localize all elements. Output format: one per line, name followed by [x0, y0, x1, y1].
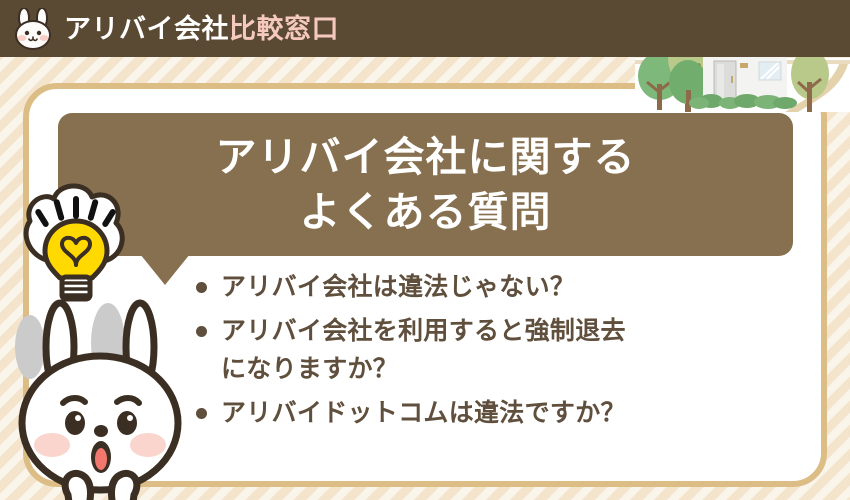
- faq-list: アリバイ会社は違法じゃない？ アリバイ会社を利用すると強制退去 になりますか？ …: [196, 268, 816, 438]
- banner-line-1: アリバイ会社に関する: [216, 130, 636, 185]
- page-title: アリバイ会社比較窓口: [64, 16, 339, 43]
- list-item[interactable]: アリバイドットコムは違法ですか？: [196, 394, 816, 432]
- list-item[interactable]: アリバイ会社は違法じゃない？: [196, 268, 816, 306]
- bullet-icon: [196, 282, 207, 293]
- header-bar: アリバイ会社比較窓口: [0, 0, 850, 57]
- rabbit-face-icon: [10, 8, 56, 52]
- header-title-accent: 比較窓口: [229, 14, 339, 44]
- banner-line-2: よくある質問: [300, 185, 552, 240]
- header-title-main: アリバイ会社: [64, 14, 229, 44]
- faq-question-text: アリバイ会社を利用すると強制退去: [221, 312, 626, 350]
- faq-question-text: アリバイドットコムは違法ですか？: [221, 394, 626, 432]
- page-root: アリバイ会社比較窓口 アリバイ会社に関する よくある質問: [0, 0, 850, 500]
- faq-question-text: アリバイ会社は違法じゃない？: [221, 268, 575, 306]
- lightbulb-heart-idea-icon: [12, 177, 140, 307]
- banner-tail: [140, 254, 190, 285]
- surprised-rabbit-character: [8, 295, 198, 500]
- list-item[interactable]: アリバイ会社を利用すると強制退去 になりますか？: [196, 312, 816, 388]
- faq-question-text-wrap: になりますか？: [221, 350, 626, 388]
- faq-banner: アリバイ会社に関する よくある質問: [58, 113, 793, 256]
